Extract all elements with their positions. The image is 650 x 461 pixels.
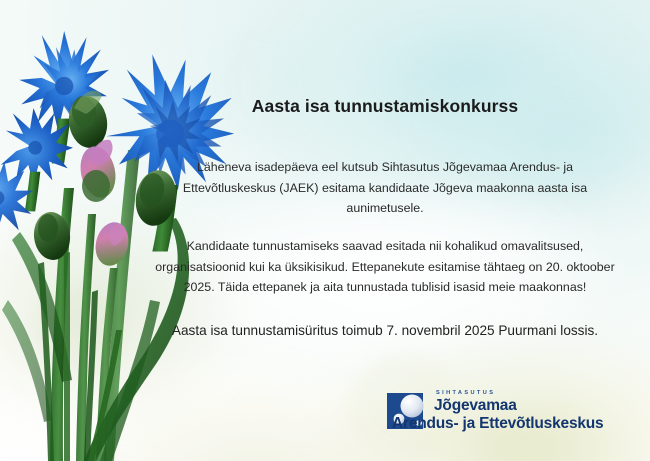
intro-paragraph: Läheneva isadepäeva eel kutsub Sihtasutu… — [150, 157, 620, 219]
jaek-logo-wordmark: SIHTASUTUS Jõgevamaa Arendus- ja Ettevõt… — [434, 389, 634, 414]
logo-line-2: Arendus- ja Ettevõtluskeskus — [392, 415, 638, 432]
details-paragraph: Kandidaate tunnustamiseks saavad esitada… — [150, 236, 620, 298]
logo-eyebrow: SIHTASUTUS — [434, 389, 634, 397]
poster-canvas: Aasta isa tunnustamiskonkurss Läheneva i… — [0, 0, 650, 461]
jaek-logo: SIHTASUTUS Jõgevamaa Arendus- ja Ettevõt… — [386, 389, 634, 441]
page-title: Aasta isa tunnustamiskonkurss — [150, 96, 620, 117]
logo-line-1: Jõgevamaa — [434, 397, 634, 414]
event-paragraph: Aasta isa tunnustamisüritus toimub 7. no… — [150, 320, 620, 341]
